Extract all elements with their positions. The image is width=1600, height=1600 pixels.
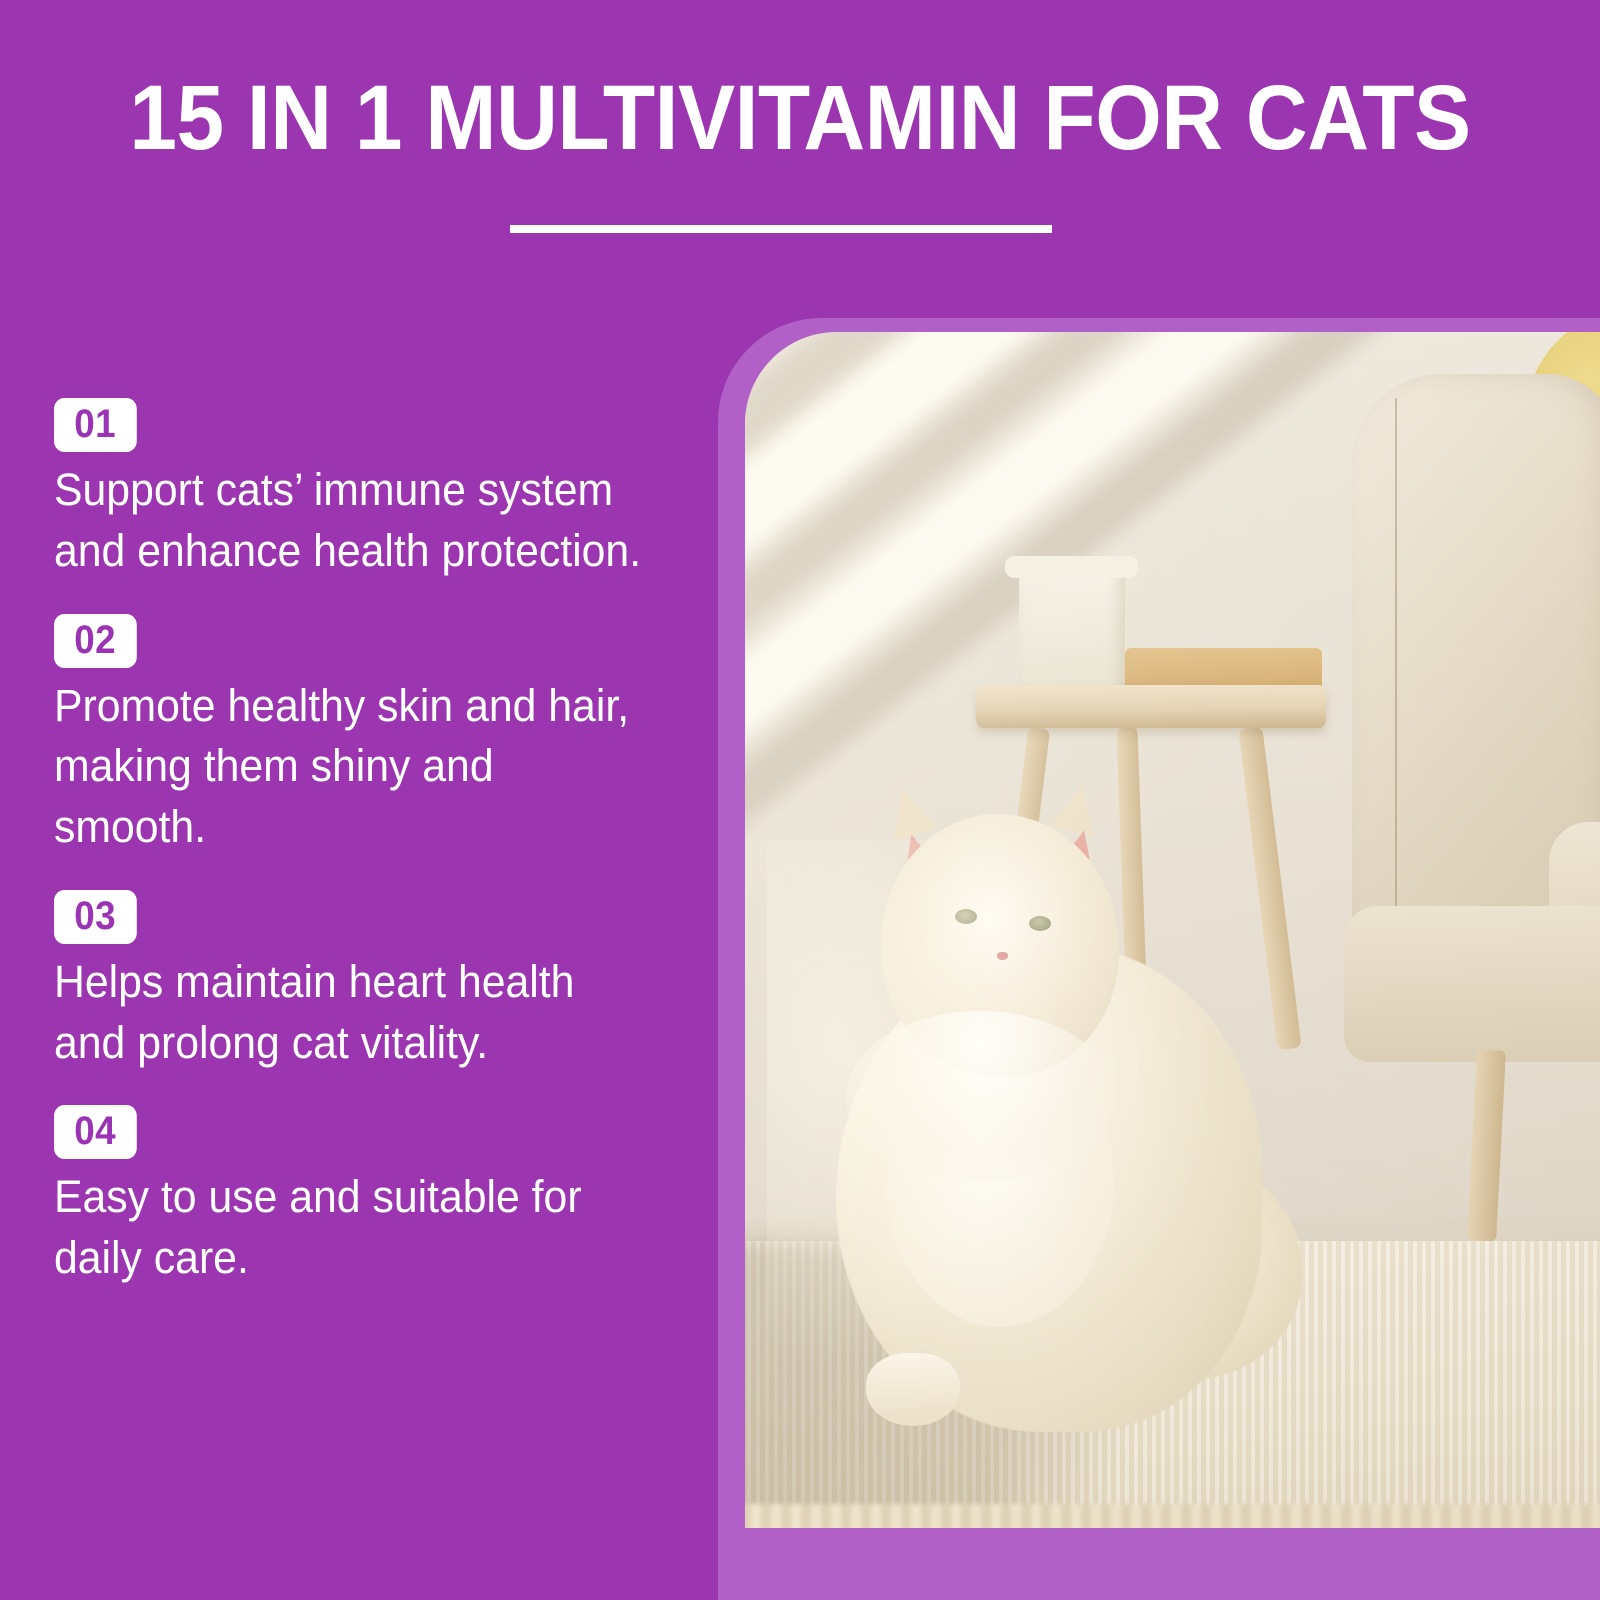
jar-lip — [1005, 556, 1138, 579]
cat-ear-left — [880, 782, 937, 841]
stool-top — [976, 685, 1327, 728]
feature-list: 01 Support cats’ immune system and enhan… — [0, 398, 700, 1289]
feature-badge-03: 03 — [54, 890, 136, 944]
photo-frame — [718, 318, 1600, 1600]
feature-item-03: 03 Helps maintain heart health and prolo… — [0, 890, 700, 1074]
feature-text-03: Helps maintain heart health and prolong … — [54, 952, 645, 1074]
product-lifestyle-photo — [745, 332, 1600, 1528]
armchair-seam — [1395, 398, 1397, 924]
armchair-seat — [1344, 906, 1600, 1061]
feature-text-02: Promote healthy skin and hair, making th… — [54, 676, 645, 858]
feature-item-04: 04 Easy to use and suitable for daily ca… — [0, 1105, 700, 1289]
feature-item-01: 01 Support cats’ immune system and enhan… — [0, 398, 700, 582]
feature-text-04: Easy to use and suitable for daily care. — [54, 1167, 645, 1289]
photo-scene — [745, 332, 1600, 1528]
cat-rim-light — [767, 840, 1065, 1366]
cat — [796, 775, 1292, 1433]
feature-badge-02: 02 — [54, 614, 136, 668]
glass-jar — [1019, 565, 1126, 703]
feature-text-01: Support cats’ immune system and enhance … — [54, 460, 645, 582]
feature-item-02: 02 Promote healthy skin and hair, making… — [0, 614, 700, 858]
rug-fringe — [745, 1504, 1600, 1528]
feature-badge-04: 04 — [54, 1105, 136, 1159]
header: 15 IN 1 MULTIVITAMIN FOR CATS — [0, 0, 1600, 300]
page-title: 15 IN 1 MULTIVITAMIN FOR CATS — [56, 72, 1544, 164]
feature-badge-01: 01 — [54, 398, 136, 452]
title-divider — [510, 225, 1052, 233]
